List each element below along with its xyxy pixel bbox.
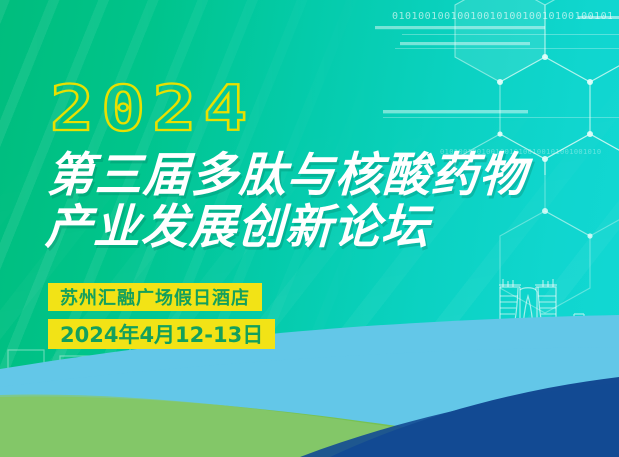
date-badge: 2024年4月12-13日 [48, 319, 275, 349]
poster-text-content: 2024 第三届多肽与核酸药物 产业发展创新论坛 苏州汇融广场假日酒店 2024… [0, 0, 619, 457]
venue-badge: 苏州汇融广场假日酒店 [48, 283, 262, 311]
page-title: 第三届多肽与核酸药物 产业发展创新论坛 [44, 152, 527, 252]
year-number: 2024 [50, 78, 255, 140]
conference-poster: 01010010010010010100100101001001010 0101… [0, 0, 619, 457]
title-line-2: 产业发展创新论坛 [44, 204, 526, 252]
title-line-1: 第三届多肽与核酸药物 [46, 148, 528, 203]
